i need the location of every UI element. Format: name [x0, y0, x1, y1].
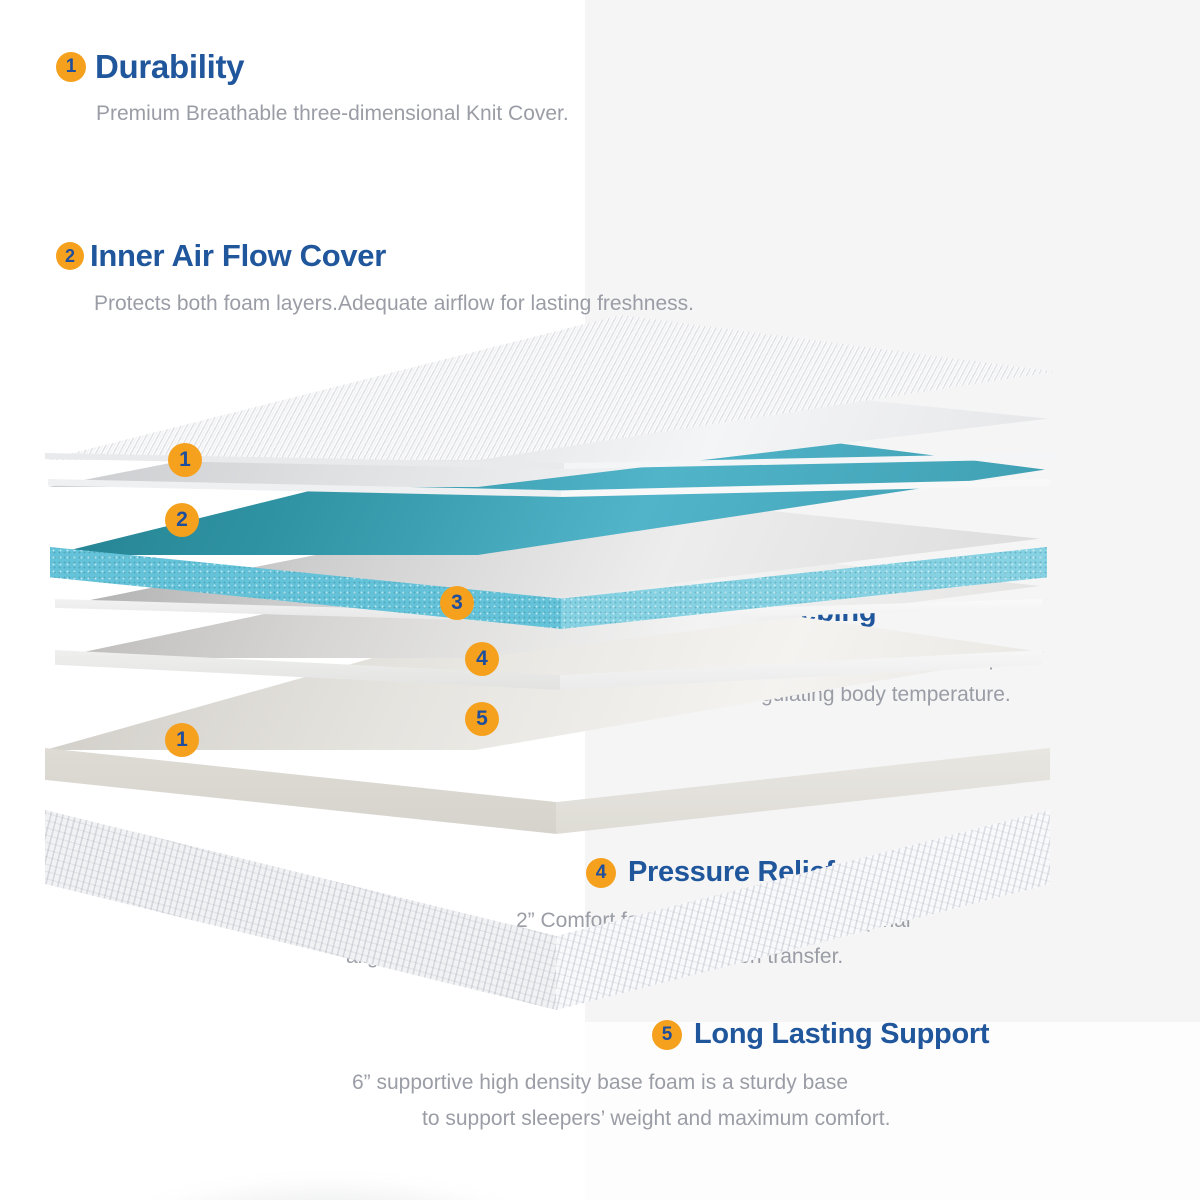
floor-shadow [20, 1115, 660, 1200]
base-foam-right-band [556, 748, 1050, 834]
section-5-line-1: 6” supportive high density base foam is … [352, 1071, 989, 1095]
section-long-lasting-support: 5 Long Lasting Support 6” supportive hig… [652, 1018, 989, 1131]
section-1-line-1: Premium Breathable three-dimensional Kni… [96, 102, 569, 126]
section-5-heading: 5 Long Lasting Support [652, 1018, 989, 1051]
callout-badge-1-cover: 1 [168, 443, 202, 477]
knit-cover-skirt-front [45, 810, 557, 1010]
section-inner-air-flow-cover: 2 Inner Air Flow Cover Protects both foa… [56, 238, 694, 316]
knit-cover-top-face [45, 315, 1055, 460]
section-5-title: Long Lasting Support [694, 1018, 989, 1051]
infographic-canvas: 1 2 3 4 5 1 1 Durability Premium Breatha… [0, 0, 1200, 1200]
section-durability: 1 Durability Premium Breathable three-di… [56, 48, 569, 126]
knit-cover-skirt-right [556, 810, 1050, 1010]
layer-knit-cover-top [45, 315, 1055, 465]
section-1-badge: 1 [56, 52, 86, 82]
section-2-heading: 2 Inner Air Flow Cover [56, 238, 694, 274]
section-2-badge: 2 [56, 242, 84, 270]
section-1-title: Durability [95, 48, 244, 86]
section-5-badge: 5 [652, 1020, 682, 1050]
section-2-line-1: Protects both foam layers.Adequate airfl… [94, 292, 694, 316]
callout-badge-2-gel-foam: 2 [165, 503, 199, 537]
callout-badge-5-base-foam: 5 [465, 702, 499, 736]
base-foam-front-band [45, 748, 557, 834]
section-1-heading: 1 Durability [56, 48, 569, 86]
exploded-mattress-illustration: 1 2 3 4 5 1 [0, 355, 1060, 1035]
section-2-title: Inner Air Flow Cover [90, 238, 386, 274]
callout-badge-1-cover-skirt: 1 [165, 723, 199, 757]
callout-badge-4-comfort-foam: 4 [465, 642, 499, 676]
callout-badge-3-gel-foam-edge: 3 [440, 586, 474, 620]
